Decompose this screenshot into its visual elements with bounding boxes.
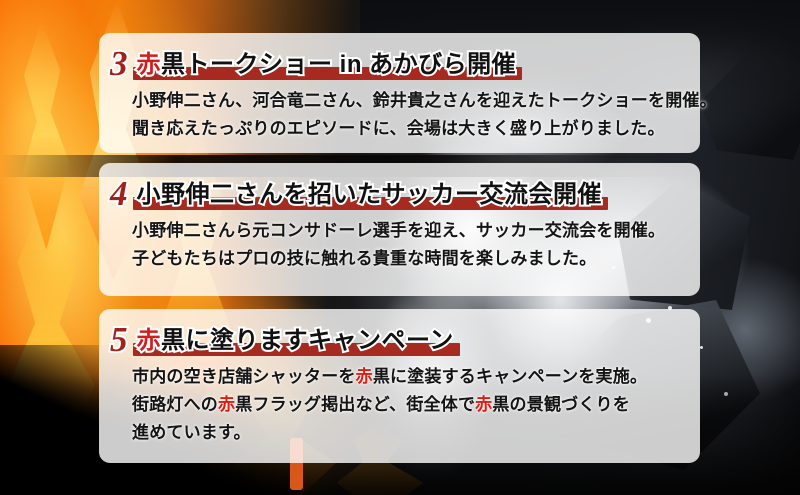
card-5-body: 市内の空き店舗シャッターを赤黒に塗装するキャンペーンを実施。街路灯への赤黒フラッ… [99,357,700,447]
info-card-3: 3 赤黒トークショー in あかびら開催 小野伸二さん、河合竜二さん、鈴井貴之さ… [99,33,700,153]
info-card-5: 5 赤黒に塗りますキャンペーン 市内の空き店舗シャッターを赤黒に塗装するキャンペ… [99,309,700,463]
body-segment: 市内の空き店舗シャッターを [132,367,356,386]
body-segment: 黒の景観づくりを [492,395,630,414]
body-segment: 赤 [218,395,235,414]
card-5-header: 5 赤黒に塗りますキャンペーン [99,309,700,357]
body-line: 聞き応えたっぷりのエピソードに、会場は大きく盛り上がりました。 [132,115,700,143]
poster-stage: 3 赤黒トークショー in あかびら開催 小野伸二さん、河合竜二さん、鈴井貴之さ… [0,0,800,495]
card-4-number: 4 [110,177,128,211]
body-segment: 小野伸二さん、河合竜二さん、鈴井貴之さんを迎えたトークショーを開催。 [132,91,717,110]
title-segment: 黒トークショー in あかびら開催 [161,51,516,78]
card-3-number: 3 [110,47,128,81]
card-4-title-wrap: 小野伸二さんを招いたサッカー交流会開催 [137,181,603,211]
card-4-body: 小野伸二さんら元コンサドーレ選手を迎え、サッカー交流会を開催。子どもたちはプロの… [99,211,700,273]
body-segment: 赤 [475,395,492,414]
card-3-title: 赤黒トークショー in あかびら開催 [137,51,517,79]
title-segment: 赤 [137,327,162,354]
body-segment: 街路灯への [132,395,218,414]
card-3-header: 3 赤黒トークショー in あかびら開催 [99,33,700,81]
card-4-title: 小野伸二さんを招いたサッカー交流会開催 [137,181,603,209]
title-segment: 赤 [137,51,162,78]
body-segment: 赤 [356,367,373,386]
card-5-title-wrap: 赤黒に塗りますキャンペーン [137,327,454,357]
title-segment: 黒に塗りますキャンペーン [161,327,454,354]
body-segment: 子どもたちはプロの技に触れる貴重な時間を楽しみました。 [132,249,596,268]
card-3-title-wrap: 赤黒トークショー in あかびら開催 [137,51,517,81]
body-line: 市内の空き店舗シャッターを赤黒に塗装するキャンペーンを実施。 [132,363,700,391]
body-segment: 聞き応えたっぷりのエピソードに、会場は大きく盛り上がりました。 [132,119,665,138]
card-4-header: 4 小野伸二さんを招いたサッカー交流会開催 [99,163,700,211]
info-card-4: 4 小野伸二さんを招いたサッカー交流会開催 小野伸二さんら元コンサドーレ選手を迎… [99,163,700,296]
body-segment: 小野伸二さんら元コンサドーレ選手を迎え、サッカー交流会を開催。 [132,221,665,240]
card-3-body: 小野伸二さん、河合竜二さん、鈴井貴之さんを迎えたトークショーを開催。聞き応えたっ… [99,81,700,143]
body-segment: 黒フラッグ掲出など、街全体で [235,395,475,414]
body-segment: 黒に塗装するキャンペーンを実施。 [373,367,647,386]
body-line: 街路灯への赤黒フラッグ掲出など、街全体で赤黒の景観づくりを [132,391,700,419]
card-5-title: 赤黒に塗りますキャンペーン [137,327,454,355]
title-segment: 小野伸二さんを招いたサッカー交流会開催 [137,181,603,208]
body-line: 小野伸二さん、河合竜二さん、鈴井貴之さんを迎えたトークショーを開催。 [132,87,700,115]
body-segment: 進めています。 [132,423,251,442]
body-line: 小野伸二さんら元コンサドーレ選手を迎え、サッカー交流会を開催。 [132,217,700,245]
body-line: 進めています。 [132,419,700,447]
card-5-number: 5 [110,323,128,357]
body-line: 子どもたちはプロの技に触れる貴重な時間を楽しみました。 [132,245,700,273]
